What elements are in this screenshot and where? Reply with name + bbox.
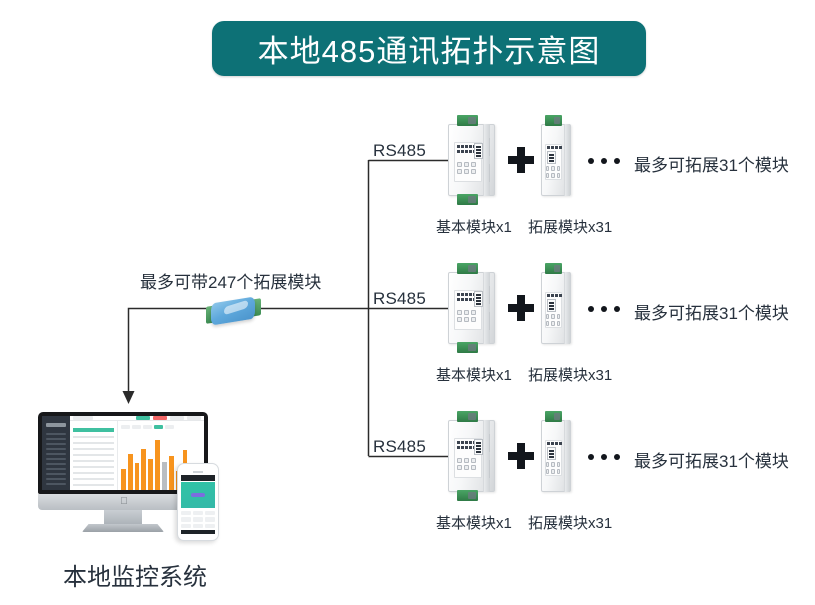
chart-tabs — [121, 425, 201, 429]
led-row-top — [547, 442, 562, 445]
basic-module-1[interactable] — [448, 124, 495, 196]
basic-module-3[interactable] — [448, 420, 495, 492]
terminal-block-top — [457, 263, 478, 274]
phone-hero-panel — [181, 482, 215, 508]
expand-note-2: 最多可拓展31个模块 — [634, 299, 789, 324]
vent-slit — [489, 460, 490, 478]
bus-label-3: RS485 — [373, 437, 426, 457]
button-grid[interactable] — [457, 310, 476, 322]
button-grid[interactable] — [457, 458, 476, 470]
vent-slit — [489, 312, 490, 330]
monitor-neck — [104, 510, 142, 526]
converter-label-strip — [224, 300, 248, 316]
rs485-converter-icon[interactable] — [205, 298, 261, 328]
vent-slit — [489, 286, 490, 304]
basic-module-caption-2: 基本模块x1 — [436, 364, 512, 385]
led-row-top — [547, 294, 562, 297]
dip-switch[interactable] — [474, 143, 483, 159]
phone-tile-grid — [181, 508, 215, 528]
dip-switch[interactable] — [547, 299, 556, 312]
dip-switch[interactable] — [474, 291, 483, 307]
plus-icon-1 — [508, 147, 534, 173]
extension-module-1[interactable] — [541, 124, 571, 196]
vent-slit — [489, 164, 490, 182]
basic-module-caption-3: 基本模块x1 — [436, 512, 512, 533]
din-rail-side — [483, 420, 491, 492]
terminal-block-top — [545, 263, 562, 274]
button-grid[interactable] — [546, 462, 560, 474]
extension-module-caption-2: 拓展模块x31 — [528, 364, 612, 385]
terminal-block-top — [545, 411, 562, 422]
expand-note-1: 最多可拓展31个模块 — [634, 151, 789, 176]
dip-switch[interactable] — [474, 439, 483, 455]
extension-module-caption-1: 拓展模块x31 — [528, 216, 612, 237]
din-rail-side — [564, 124, 570, 196]
topology-diagram-canvas: 本地485通讯拓扑示意图 RS485 最多可 — [0, 0, 815, 605]
system-label: 本地监控系统 — [63, 557, 207, 592]
expand-note-3: 最多可拓展31个模块 — [634, 447, 789, 472]
terminal-block-bottom — [457, 490, 478, 501]
dip-switch[interactable] — [547, 447, 556, 460]
ellipsis-icon-2 — [588, 306, 620, 312]
extension-module-caption-3: 拓展模块x31 — [528, 512, 612, 533]
button-grid[interactable] — [546, 166, 560, 178]
plus-icon-3 — [508, 443, 534, 469]
plus-icon-2 — [508, 295, 534, 321]
arrowhead-to-monitor — [123, 391, 135, 404]
vent-slit — [489, 138, 490, 156]
mobile-app-phone[interactable] — [177, 463, 219, 541]
phone-home-bar — [181, 530, 215, 534]
converter-shell — [211, 297, 255, 326]
extension-module-2[interactable] — [541, 272, 571, 344]
din-rail-side — [483, 124, 491, 196]
din-rail-side — [483, 272, 491, 344]
vent-slit — [489, 434, 490, 452]
basic-module-2[interactable] — [448, 272, 495, 344]
dashboard-device-list — [70, 421, 118, 490]
bus-label-2: RS485 — [373, 289, 426, 309]
led-row-top — [547, 146, 562, 149]
dip-switch[interactable] — [547, 151, 556, 164]
din-rail-side — [564, 420, 570, 492]
terminal-block-top — [457, 411, 478, 422]
dashboard-sidebar — [42, 416, 70, 490]
phone-speaker — [181, 469, 215, 474]
terminal-block-bottom — [457, 342, 478, 353]
ellipsis-icon-1 — [588, 158, 620, 164]
apple-logo-icon:  — [120, 497, 128, 506]
ellipsis-icon-3 — [588, 454, 620, 460]
extension-module-3[interactable] — [541, 420, 571, 492]
basic-module-caption-1: 基本模块x1 — [436, 216, 512, 237]
phone-status-bar — [181, 475, 215, 481]
button-grid[interactable] — [546, 314, 560, 326]
button-grid[interactable] — [457, 162, 476, 174]
bus-label-1: RS485 — [373, 141, 426, 161]
terminal-block-bottom — [457, 194, 478, 205]
terminal-block-top — [457, 115, 478, 126]
terminal-block-top — [545, 115, 562, 126]
din-rail-side — [564, 272, 570, 344]
capacity-note: 最多可带247个拓展模块 — [140, 268, 321, 293]
monitor-stand-foot — [82, 524, 164, 532]
